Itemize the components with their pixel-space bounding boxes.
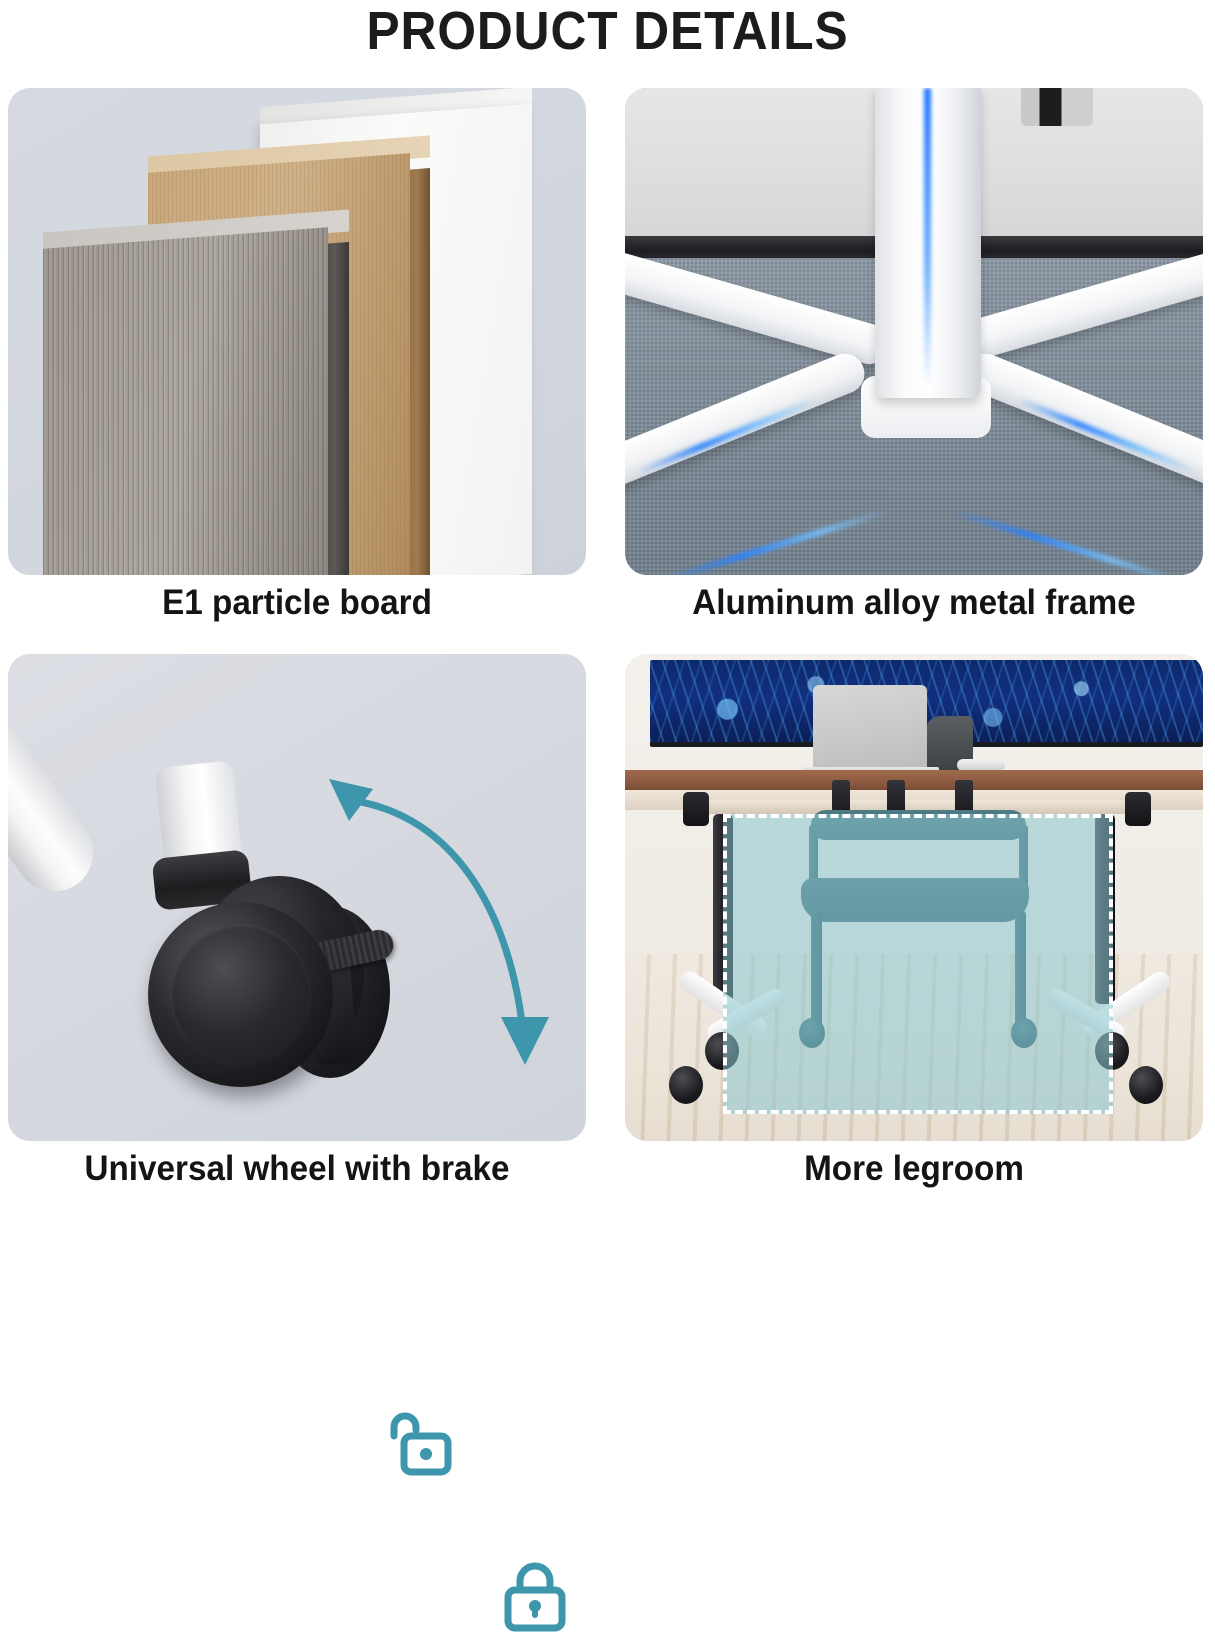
caption-more-legroom: More legroom: [639, 1146, 1188, 1191]
particle-board-image: [8, 88, 586, 575]
caption-e1-particle-board: E1 particle board: [22, 580, 571, 625]
caption-universal-wheel-with-brake: Universal wheel with brake: [22, 1146, 571, 1191]
feature-grid: E1 particle board Aluminum alloy metal f…: [0, 88, 1215, 1205]
lock-icon: [500, 1560, 570, 1634]
feature-cell-aluminum-alloy-metal-frame: Aluminum alloy metal frame: [625, 88, 1203, 633]
frame-clamp: [1021, 88, 1093, 126]
unlock-icon: [380, 1406, 454, 1480]
metal-frame-image: [625, 88, 1203, 575]
leg-bracket-right: [1125, 792, 1151, 826]
page-title: PRODUCT DETAILS: [49, 2, 1167, 60]
feature-cell-universal-wheel-with-brake: Universal wheel with brake: [8, 654, 586, 1199]
laptop-screen: [813, 685, 927, 771]
gray-board-face: [43, 227, 328, 575]
blue-glow-column: [924, 88, 931, 388]
legroom-area-highlight: [723, 814, 1113, 1114]
caster-wheel: [148, 902, 333, 1087]
caster-wheel-image: [8, 654, 586, 1141]
feature-cell-more-legroom: More legroom: [625, 654, 1203, 1199]
table-caster-1: [669, 1066, 703, 1104]
table-leg-upper: [8, 654, 109, 907]
feature-cell-e1-particle-board: E1 particle board: [8, 88, 586, 633]
caption-aluminum-alloy-metal-frame: Aluminum alloy metal frame: [639, 580, 1188, 625]
table-caster-4: [1129, 1066, 1163, 1104]
caster-wheel-hub: [170, 924, 311, 1065]
brake-toggle-arrow: [323, 759, 563, 1089]
desk-top-surface: [625, 770, 1203, 792]
legroom-image: [625, 654, 1203, 1141]
leg-bracket-left: [683, 792, 709, 826]
